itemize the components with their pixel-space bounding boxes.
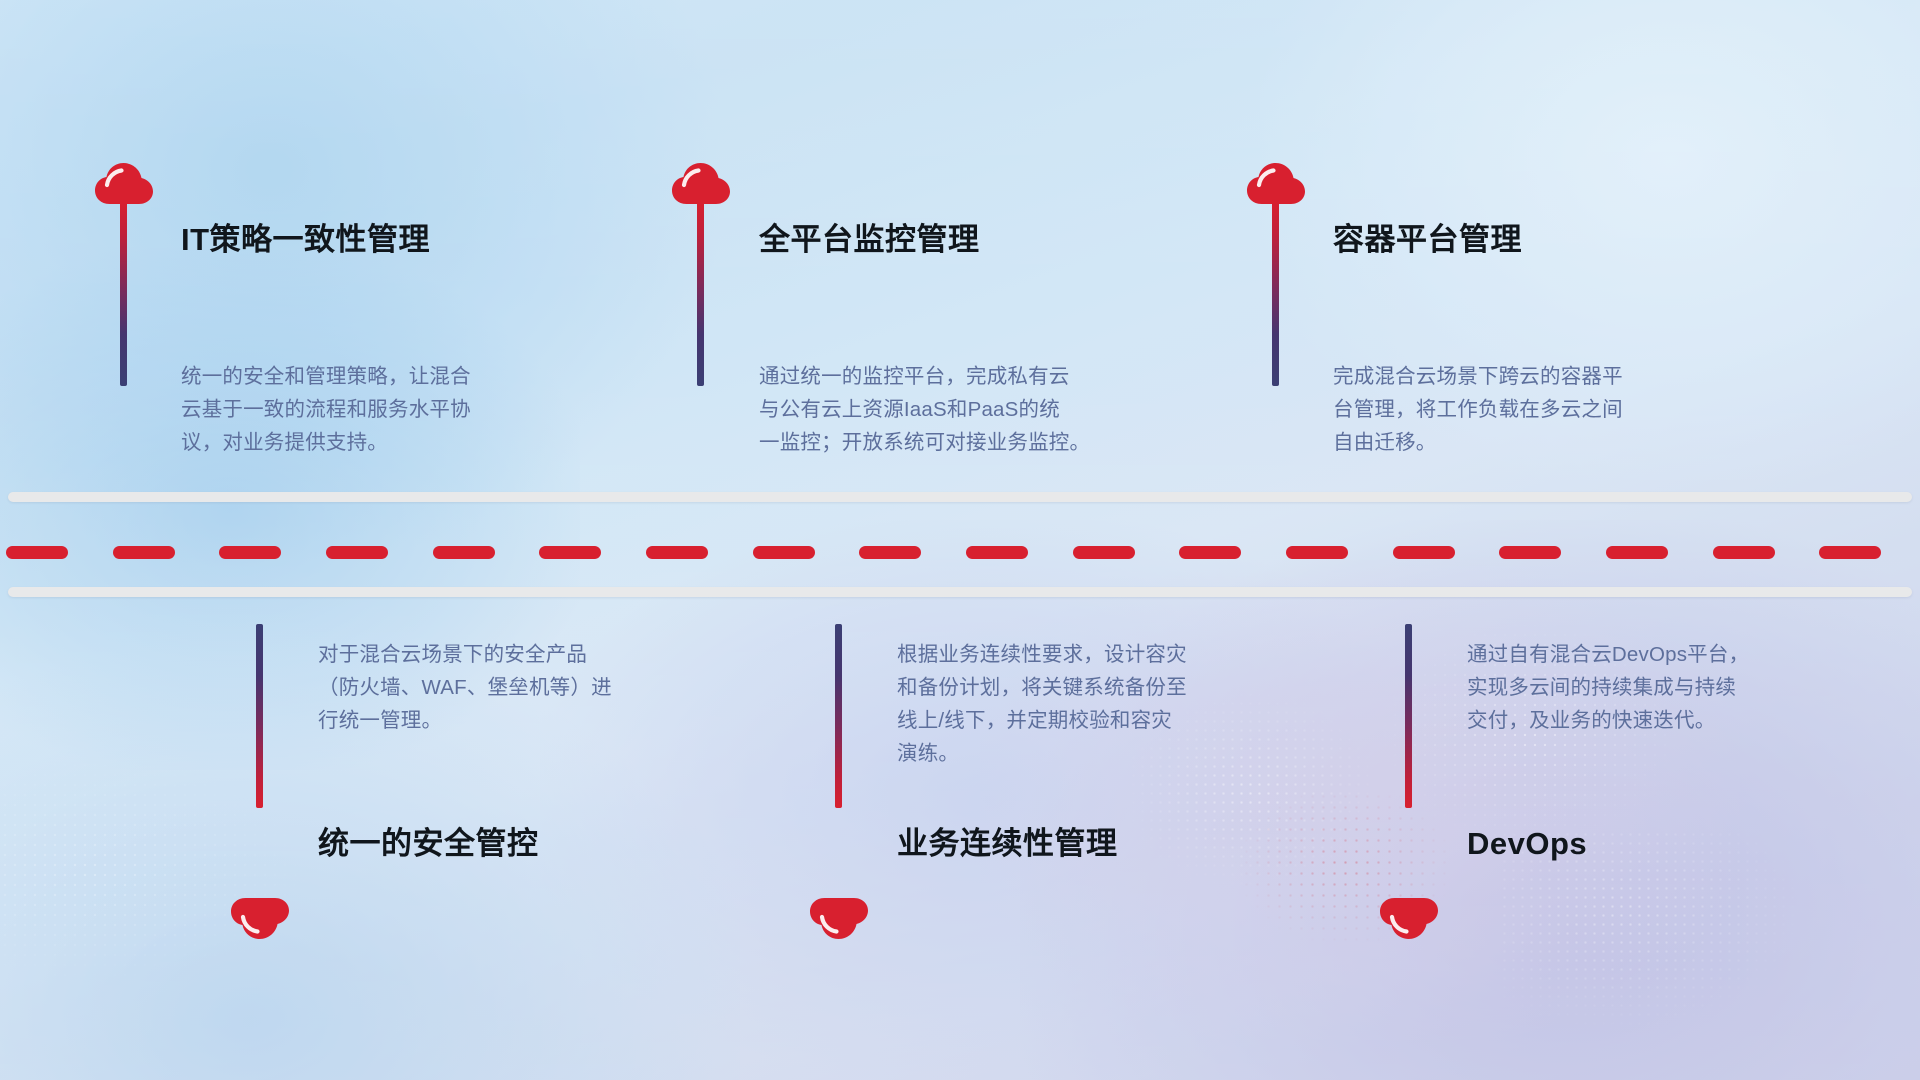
road-dash-segment (539, 546, 601, 559)
road-dash-segment (859, 546, 921, 559)
road-dash-segment (1073, 546, 1135, 559)
stem-line (1272, 202, 1279, 386)
description-line: 通过统一的监控平台，完成私有云 (759, 360, 1090, 393)
description-line: 行统一管理。 (318, 704, 612, 737)
road-dash-segment (966, 546, 1028, 559)
capability-heading: 全平台监控管理 (759, 221, 980, 258)
road-dash-segment (326, 546, 388, 559)
stem-line (1405, 624, 1412, 808)
description-line: 自由迁移。 (1333, 426, 1623, 459)
road-dash-segment (1819, 546, 1881, 559)
stem-line (697, 202, 704, 386)
halftone-dots-decoration (0, 760, 300, 980)
description-line: （防火墙、WAF、堡垒机等）进 (318, 671, 612, 704)
road-edge-line-bottom (8, 587, 1912, 597)
description-line: 议，对业务提供支持。 (181, 426, 471, 459)
capability-heading: 业务连续性管理 (897, 825, 1118, 862)
description-line: 实现多云间的持续集成与持续 (1467, 671, 1749, 704)
cloud-pin-icon (1245, 160, 1307, 206)
description-line: 通过自有混合云DevOps平台， (1467, 638, 1749, 671)
cloud-pin-icon (808, 896, 870, 942)
road-center-dashes (0, 546, 1920, 559)
description-line: 和备份计划，将关键系统备份至 (897, 671, 1187, 704)
road-dash-segment (113, 546, 175, 559)
description-line: 一监控；开放系统可对接业务监控。 (759, 426, 1090, 459)
description-line: 交付，及业务的快速迭代。 (1467, 704, 1749, 737)
road-dash-segment (753, 546, 815, 559)
description-line: 线上/线下，并定期校验和容灾 (897, 704, 1187, 737)
description-line: 台管理，将工作负载在多云之间 (1333, 393, 1623, 426)
cloud-pin-icon (1378, 896, 1440, 942)
description-line: 根据业务连续性要求，设计容灾 (897, 638, 1187, 671)
capability-description: 通过统一的监控平台，完成私有云 与公有云上资源IaaS和PaaS的统 一监控；开… (759, 360, 1090, 459)
road-dash-segment (1499, 546, 1561, 559)
road-dash-segment (646, 546, 708, 559)
capability-heading: 统一的安全管控 (318, 825, 539, 862)
road-dash-segment (1393, 546, 1455, 559)
road-dash-segment (433, 546, 495, 559)
stem-line (256, 624, 263, 808)
road-dash-segment (219, 546, 281, 559)
description-line: 统一的安全和管理策略，让混合 (181, 360, 471, 393)
stem-line (835, 624, 842, 808)
road-dash-segment (1713, 546, 1775, 559)
description-line: 对于混合云场景下的安全产品 (318, 638, 612, 671)
road-dash-segment (6, 546, 68, 559)
description-line: 完成混合云场景下跨云的容器平 (1333, 360, 1623, 393)
capability-description: 统一的安全和管理策略，让混合 云基于一致的流程和服务水平协 议，对业务提供支持。 (181, 360, 471, 459)
cloud-pin-icon (229, 896, 291, 942)
road-dash-segment (1179, 546, 1241, 559)
cloud-pin-icon (670, 160, 732, 206)
capability-heading: IT策略一致性管理 (181, 221, 430, 258)
description-line: 云基于一致的流程和服务水平协 (181, 393, 471, 426)
capability-description: 对于混合云场景下的安全产品 （防火墙、WAF、堡垒机等）进 行统一管理。 (318, 638, 612, 737)
capability-description: 完成混合云场景下跨云的容器平 台管理，将工作负载在多云之间 自由迁移。 (1333, 360, 1623, 459)
cloud-pin-icon (93, 160, 155, 206)
capability-heading: DevOps (1467, 825, 1587, 862)
road-dash-segment (1286, 546, 1348, 559)
capability-description: 通过自有混合云DevOps平台， 实现多云间的持续集成与持续 交付，及业务的快速… (1467, 638, 1749, 737)
description-line: 与公有云上资源IaaS和PaaS的统 (759, 393, 1090, 426)
road-edge-line-top (8, 492, 1912, 502)
stem-line (120, 202, 127, 386)
capability-description: 根据业务连续性要求，设计容灾 和备份计划，将关键系统备份至 线上/线下，并定期校… (897, 638, 1187, 770)
infographic-canvas: IT策略一致性管理 统一的安全和管理策略，让混合 云基于一致的流程和服务水平协 … (0, 0, 1920, 1080)
capability-heading: 容器平台管理 (1333, 221, 1522, 258)
road-dash-segment (1606, 546, 1668, 559)
description-line: 演练。 (897, 737, 1187, 770)
